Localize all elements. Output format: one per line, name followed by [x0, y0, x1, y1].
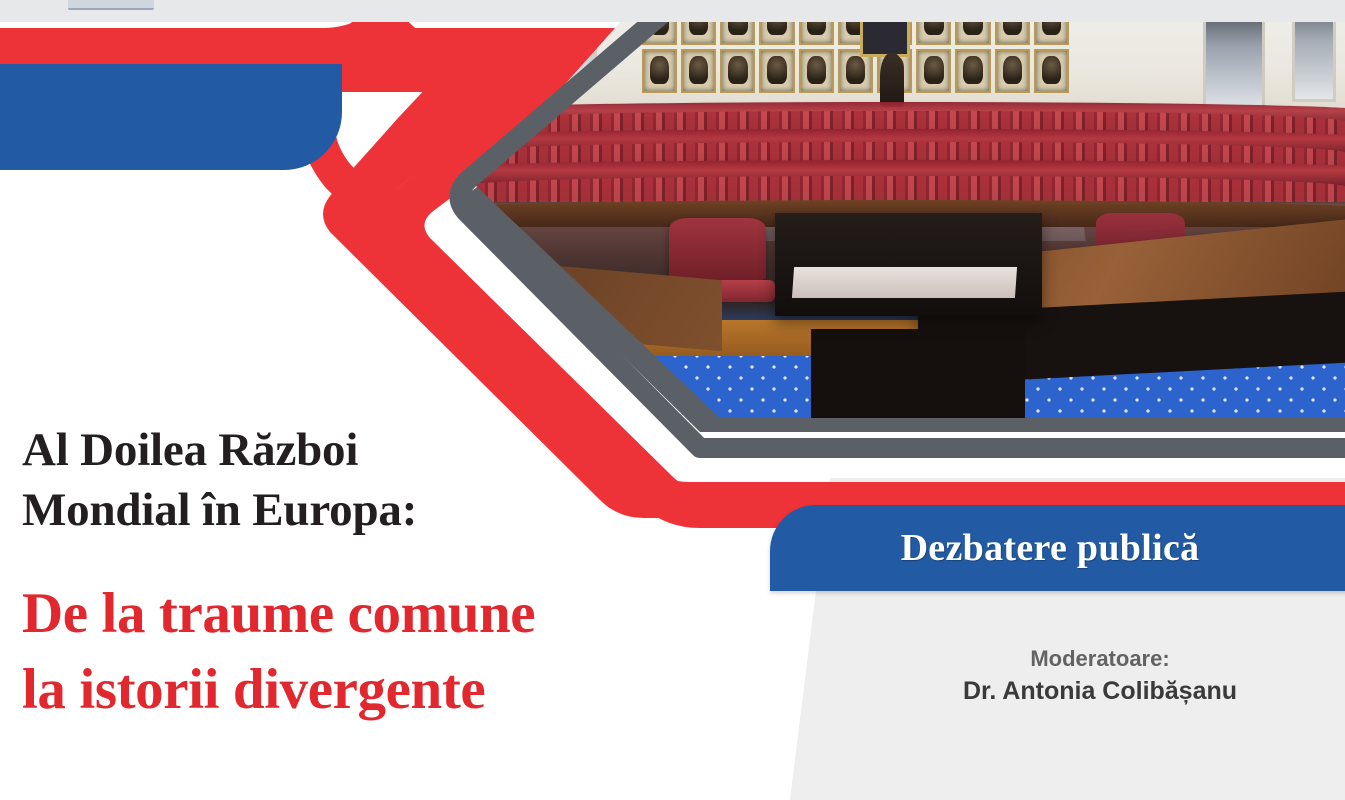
title-main: Al Doilea Război Mondial în Europa: [22, 420, 742, 540]
moderator-name: Dr. Antonia Colibășanu [880, 675, 1320, 708]
subtitle-line-1: De la traume comune [22, 576, 742, 652]
photo-dark-rostrum [811, 329, 1025, 427]
photo-speaker-desk [775, 213, 1042, 315]
moderator-label: Moderatoare: [880, 645, 1320, 673]
photo-chair-row-3 [455, 176, 1345, 203]
title-block: Al Doilea Război Mondial în Europa: De l… [22, 420, 742, 728]
photo-central-statue [880, 53, 903, 106]
banner-label: Dezbatere publică [901, 526, 1240, 570]
subtitle-line-2: la istorii divergente [22, 652, 742, 728]
photo-foreground-chair-left [669, 218, 767, 280]
title-subtitle: De la traume comune la istorii divergent… [22, 576, 742, 728]
moderator-block: Moderatoare: Dr. Antonia Colibășanu [880, 645, 1320, 707]
browser-chrome-strip [0, 0, 1345, 22]
blue-accent-block [0, 64, 342, 170]
public-debate-banner: Dezbatere publică [770, 505, 1345, 591]
title-line-2: Mondial în Europa: [22, 480, 742, 540]
title-line-1: Al Doilea Război [22, 420, 742, 480]
photo-desk-papers [792, 267, 1017, 298]
poster-canvas: Dezbatere publică Al Doilea Război Mondi… [0, 0, 1345, 800]
browser-tab-fragment[interactable] [68, 0, 154, 10]
